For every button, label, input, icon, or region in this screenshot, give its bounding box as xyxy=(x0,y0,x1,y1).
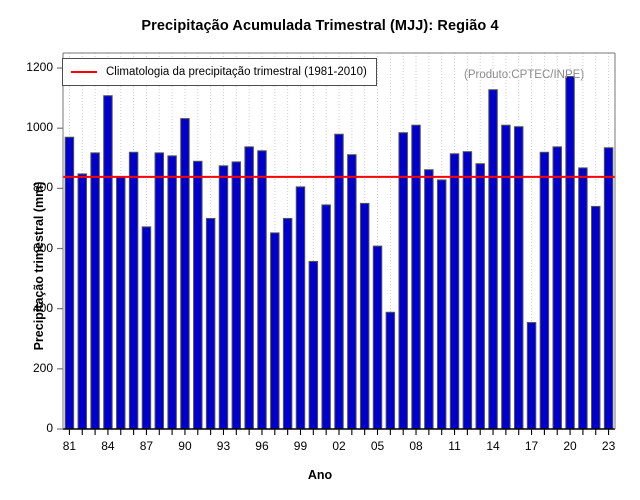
chart-legend: Climatologia da precipitação trimestral … xyxy=(62,58,377,86)
x-tick-label: 08 xyxy=(396,439,436,453)
x-tick-label: 84 xyxy=(88,439,128,453)
y-tick-label: 800 xyxy=(0,180,53,194)
y-tick-label: 200 xyxy=(0,361,53,375)
x-axis-ticks xyxy=(69,429,608,435)
producer-note: (Produto:CPTEC/INPE) xyxy=(464,69,584,81)
y-tick-label: 600 xyxy=(0,241,53,255)
y-tick-label: 0 xyxy=(0,421,53,435)
y-axis-ticks xyxy=(57,68,63,429)
x-tick-label: 93 xyxy=(203,439,243,453)
x-tick-label: 02 xyxy=(319,439,359,453)
x-tick-label: 87 xyxy=(126,439,166,453)
x-tick-label: 99 xyxy=(280,439,320,453)
legend-label-climatology: Climatologia da precipitação trimestral … xyxy=(106,66,367,78)
x-tick-label: 96 xyxy=(242,439,282,453)
x-tick-label: 20 xyxy=(550,439,590,453)
y-tick-label: 1000 xyxy=(0,120,53,134)
x-tick-label: 14 xyxy=(473,439,513,453)
y-tick-label: 400 xyxy=(0,301,53,315)
x-tick-label: 11 xyxy=(435,439,475,453)
chart-figure: Precipitação Acumulada Trimestral (MJJ):… xyxy=(0,0,640,500)
x-tick-label: 05 xyxy=(358,439,398,453)
climatology-line-swatch-icon xyxy=(71,71,97,73)
x-tick-label: 90 xyxy=(165,439,205,453)
x-tick-label: 23 xyxy=(589,439,629,453)
x-tick-label: 81 xyxy=(49,439,89,453)
bar-series xyxy=(65,76,613,429)
y-tick-label: 1200 xyxy=(0,60,53,74)
x-tick-label: 17 xyxy=(512,439,552,453)
